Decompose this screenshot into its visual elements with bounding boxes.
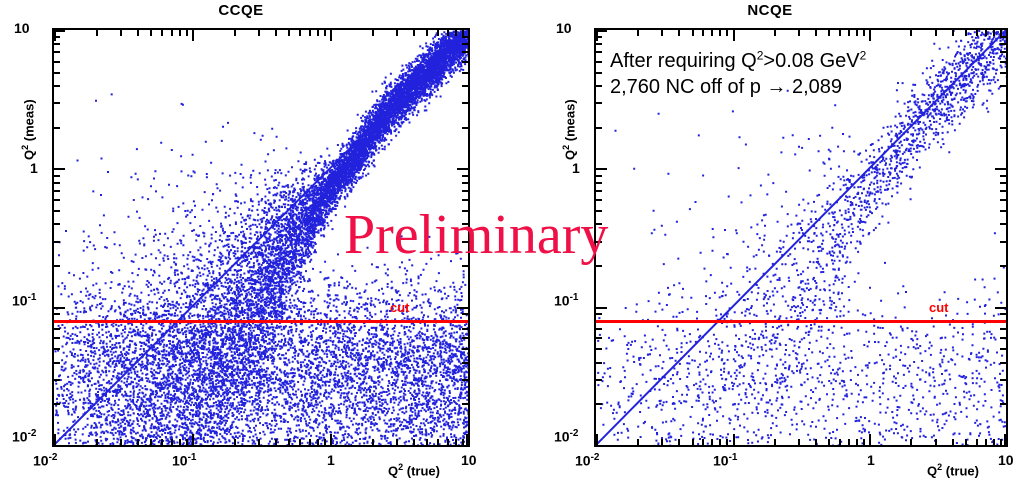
y-axis-label: Q2 (meas): [20, 99, 36, 160]
y-tick-label-1e-2: 10-2: [554, 428, 578, 445]
plot-area-ncqe: After requiring Q2>0.08 GeV2 2,760 NC of…: [594, 28, 1008, 447]
panel-title-ncqe: NCQE: [515, 2, 1019, 19]
y-tick-label-10: 10: [14, 20, 30, 36]
y-tick-label-1e-1: 10-1: [12, 292, 36, 309]
x-tick-label-10: 10: [998, 452, 1014, 468]
y-tick-label-1e-2: 10-2: [12, 428, 36, 445]
x-tick-label-1: 1: [327, 452, 335, 468]
y-tick-label-1e-1: 10-1: [554, 292, 578, 309]
panel-title-ccqe: CCQE: [0, 2, 496, 19]
preliminary-watermark: Preliminary: [344, 203, 608, 267]
cut-label: cut: [390, 300, 410, 315]
x-axis-label: Q2 (true): [927, 462, 979, 478]
cut-line: [54, 320, 468, 323]
x-tick-label-1e-2: 10-2: [575, 452, 599, 469]
ncqe-annotation: After requiring Q2>0.08 GeV2 2,760 NC of…: [610, 48, 866, 100]
x-tick-label-1e-1: 10-1: [172, 452, 196, 469]
x-axis-label: Q2 (true): [388, 462, 440, 478]
y-tick-label-1: 1: [30, 160, 38, 176]
annotation-line-2: 2,760 NC off of p → 2,089: [610, 74, 866, 100]
x-tick-label-1: 1: [867, 452, 875, 468]
annotation-line-1: After requiring Q2>0.08 GeV2: [610, 50, 866, 72]
cut-label: cut: [929, 300, 949, 315]
y-tick-label-10: 10: [556, 20, 572, 36]
x-tick-label-1e-1: 10-1: [713, 452, 737, 469]
x-tick-label-1e-2: 10-2: [33, 452, 57, 469]
y-axis-label: Q2 (meas): [561, 99, 577, 160]
x-tick-label-10: 10: [461, 452, 477, 468]
y-tick-label-1: 1: [572, 160, 580, 176]
cut-line: [596, 320, 1006, 323]
